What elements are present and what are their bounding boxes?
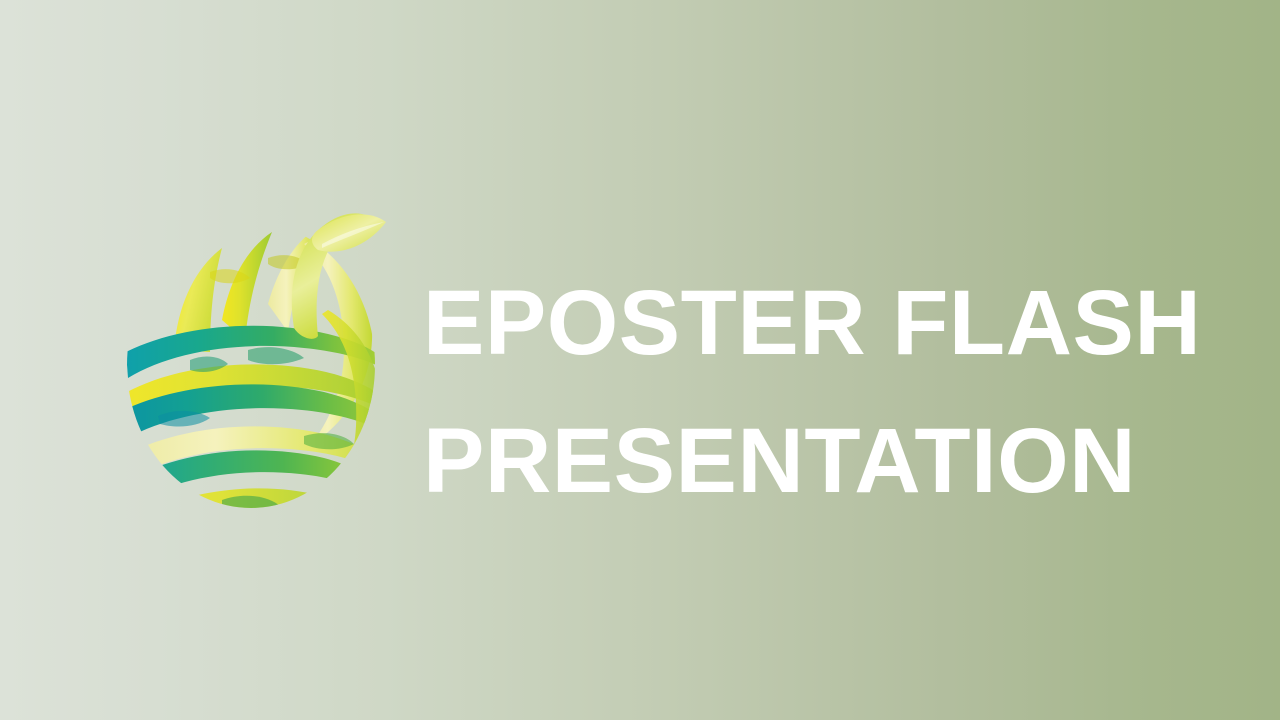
title-line-2: PRESENTATION bbox=[423, 392, 1213, 530]
globe-bands bbox=[118, 226, 398, 520]
title-slide: EPOSTER FLASH PRESENTATION bbox=[0, 0, 1280, 720]
page-title: EPOSTER FLASH PRESENTATION bbox=[423, 254, 1213, 530]
globe-ribbon-leaf-logo bbox=[118, 200, 408, 520]
title-line-1: EPOSTER FLASH bbox=[423, 254, 1213, 392]
